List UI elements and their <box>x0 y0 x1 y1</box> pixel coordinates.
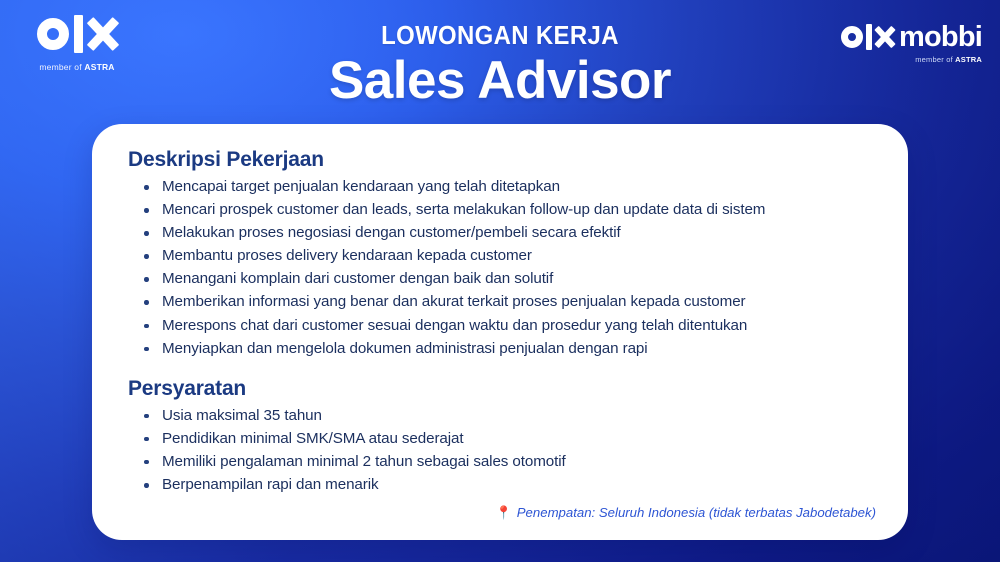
list-item: Memiliki pengalaman minimal 2 tahun seba… <box>140 450 880 473</box>
olxmobbi-bar-icon <box>866 24 872 50</box>
placement-note: 📍 Penempatan: Seluruh Indonesia (tidak t… <box>496 505 876 520</box>
list-item: Berpenampilan rapi dan menarik <box>140 473 880 496</box>
list-item: Menyiapkan dan mengelola dokumen adminis… <box>140 337 880 360</box>
list-item: Mencari prospek customer dan leads, sert… <box>140 198 880 221</box>
olxmobbi-wordmark: mobbi <box>899 21 982 54</box>
poster-kicker: LOWONGAN KERJA <box>40 22 960 48</box>
map-pin-icon: 📍 <box>496 506 512 519</box>
list-item: Pendidikan minimal SMK/SMA atau sederaja… <box>140 427 880 450</box>
olxmobbi-logo: mobbi member of ASTRA <box>841 22 982 64</box>
description-section-title: Deskripsi Pekerjaan <box>128 148 880 172</box>
olxmobbi-x-icon <box>875 26 895 48</box>
list-item: Melakukan proses negosiasi dengan custom… <box>140 221 880 244</box>
requirements-section-title: Persyaratan <box>128 377 880 401</box>
job-poster: member of ASTRA LOWONGAN KERJA Sales Adv… <box>0 0 1000 562</box>
list-item: Merespons chat dari customer sesuai deng… <box>140 314 880 337</box>
list-item: Membantu proses delivery kendaraan kepad… <box>140 244 880 267</box>
description-list: Mencapai target penjualan kendaraan yang… <box>128 175 880 360</box>
poster-header: member of ASTRA LOWONGAN KERJA Sales Adv… <box>0 0 1000 124</box>
requirements-list: Usia maksimal 35 tahun Pendidikan minima… <box>128 404 880 496</box>
content-card: Deskripsi Pekerjaan Mencapai target penj… <box>92 124 908 540</box>
list-item: Menangani komplain dari customer dengan … <box>140 267 880 290</box>
olxmobbi-o-icon <box>841 26 863 48</box>
list-item: Mencapai target penjualan kendaraan yang… <box>140 175 880 198</box>
placement-note-text: Penempatan: Seluruh Indonesia (tidak ter… <box>517 505 876 520</box>
card-content: Deskripsi Pekerjaan Mencapai target penj… <box>128 148 880 522</box>
list-item: Usia maksimal 35 tahun <box>140 404 880 427</box>
list-item: Memberikan informasi yang benar dan akur… <box>140 290 880 313</box>
olxmobbi-logo-tagline: member of ASTRA <box>841 55 982 64</box>
olxmobbi-logo-mark: mobbi <box>841 22 982 52</box>
olxmobbi-tagline-brand: ASTRA <box>955 55 982 64</box>
olxmobbi-tagline-prefix: member of <box>915 55 953 64</box>
